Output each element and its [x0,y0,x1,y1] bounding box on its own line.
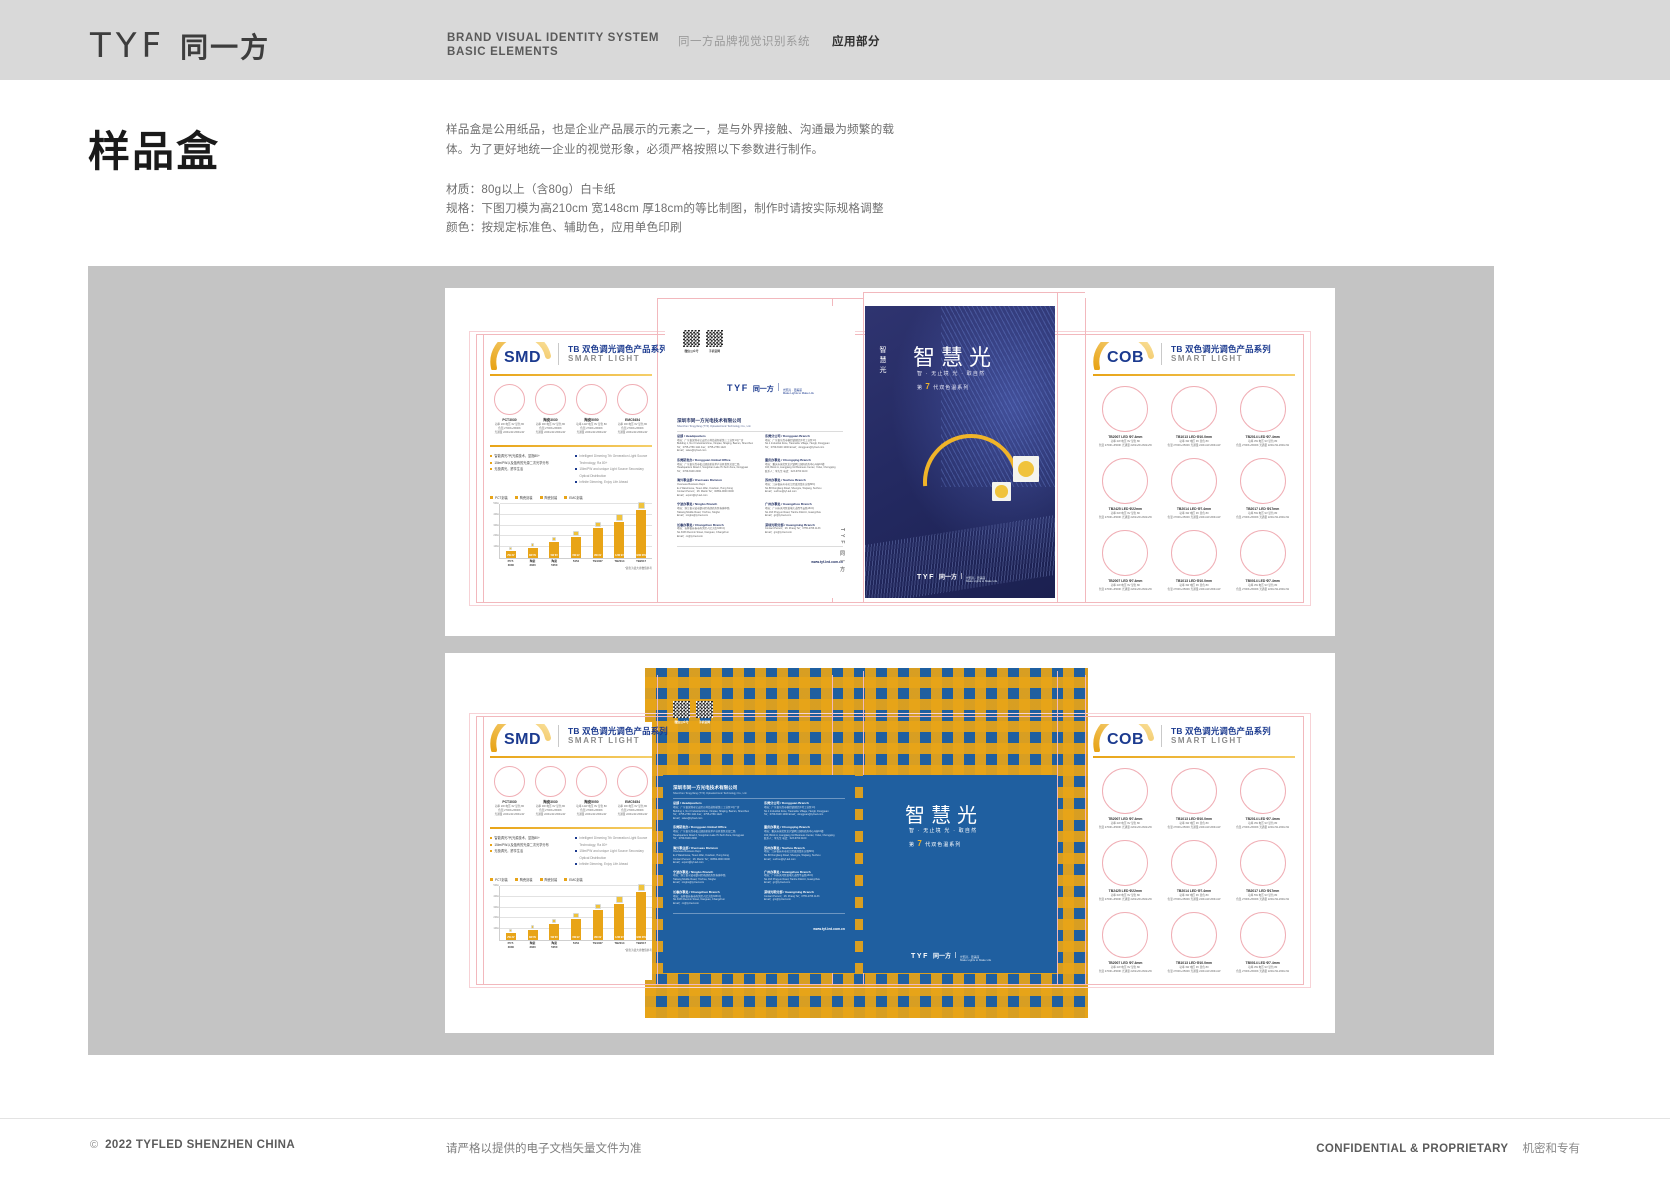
branch-block: 宁波办事处 / Ningbo Branch地址：浙江省宁波市鄞州区南部商务区泰康… [677,502,755,517]
branch-block: 重庆办事处 / Chongqing Branch地址：重庆市渝北区龙兴镇两江国际… [765,458,843,473]
cover-tyf-logo: TYF 同一方 光照亮 · 更美丽 Make Lights to Make Li… [917,572,997,584]
website-row: www.tyf-led.com.cn [677,550,843,568]
product-caption: TB0014 LED Φ7.4mm功率 3W 电压 9V 显色 80色温 270… [1236,961,1289,974]
feature-row: 无极调光，舒享生活 [490,466,567,473]
product-circle [1171,768,1217,814]
chart-bar: 12W 9V [614,522,624,558]
cover-spine-title: 智慧光 [841,350,851,380]
chart-bar: 3W 6V [528,930,538,940]
product-spec-3: 光通量 220lm/W-260lm/W [618,813,648,817]
smd-features-cn: 智能调光7代光源技术，显指80+ 15lm/PW以及独有的光源二次光学分布 无极… [490,835,567,868]
product-spec-2: 色温 2700K+6500K 光通量 220lm/W-260lm/W [1236,898,1289,902]
cob-panel-header: COB TB 双色调光调色产品系列 SMART LIGHT [1093,722,1295,752]
product-spec-2: 色温 2700K+6500K 光通量 220lm/W-260lm/W [1099,588,1152,592]
branch-block: 深圳光明分部 / Guangming BranchContact Person：… [764,890,845,905]
cob-spec-panel-plaid: COB TB 双色调光调色产品系列 SMART LIGHT TB2007 LED… [1093,722,1295,980]
chart-y-tick: 30lm [493,524,499,527]
chart-x-label: TB1307 [593,941,603,945]
branch-block: 东莞研发办 / Dongguan Global Office地址：广东省东莞市松… [673,825,754,840]
tyf-mark-text: TYF [917,574,935,581]
product-spec-2: 色温 2700K+6500K 光通量 220lm/W-260lm/W [1168,516,1221,520]
chart-bar: 5W 6V [549,542,559,557]
cover-generation: 第 7 代双色温系列 [909,839,961,848]
branch-line: Email：gz@tyf-led.com [764,881,845,885]
product-caption: TB2425 LED Φ22mm功率 6W 电压 9V 显色 80色温 2700… [1099,507,1152,520]
cob-product-cell: TB2017 LED Φ17mm功率 5W 电压 9V 显色 80色温 2700… [1230,458,1295,520]
branch-line: Tel：0769-8100 1000 Email：dongguan@tyf-le… [764,813,845,817]
dieline-fold-6 [1085,675,1086,985]
legend-swatch-icon [490,878,493,881]
logo-tagline-en: Make Lights to Make Life [966,580,997,584]
product-spec-2: 色温 2700K+6500K 光通量 220lm/W-260lm/W [1236,588,1289,592]
product-circle [494,384,525,415]
chart-led-chip-icon [509,547,512,550]
product-caption: TB1013 LED Φ10.0mm功率 3W 电压 9V 显色 80色温 27… [1168,579,1221,592]
bullet-icon [490,850,492,852]
product-spec-2: 色温 2700K+6500K 光通量 220lm/W-260lm/W [1168,826,1221,830]
branch-line: 联系人：李先生 电话：023-6700 1100 [765,470,843,474]
chart-bar-label: 18W 36V [636,936,646,939]
chart-gridline: 30lm [500,907,652,908]
spec-line-color: 颜色：按规定标准色、辅助色，应用单色印刷 [446,218,906,237]
branch-line: Email：sales@tyf-led.com [673,817,754,821]
led-dot-icon [995,485,1007,497]
cob-panel-header: COB TB 双色调光调色产品系列 SMART LIGHT [1093,340,1295,370]
chart-led-chip-icon [552,537,556,541]
product-circle [576,766,607,797]
product-spec-3: 光通量 220lm/W-260lm/W [618,431,648,435]
feature-row: 15lm/PW and unique Light Source Secondar… [575,466,652,479]
legend-swatch-icon [564,496,567,499]
description-paragraph: 样品盒是公用纸品，也是企业产品展示的元素之一，是与外界接触、沟通最为频繁的载体。… [446,120,906,160]
qr-wechat: 微信公众号 [683,330,700,353]
chart-bar-label: 3W 6V [528,554,538,557]
contact-details: 深圳市同一方光电技术有限公司 Shenzhen Tongyifang (TYF)… [673,785,845,935]
product-caption: TB1013 LED Φ10.0mm功率 3W 电压 9V 显色 80色温 27… [1168,817,1221,830]
cob-title-en: SMART LIGHT [1171,354,1243,363]
copyright-text: 2022 TYFLED SHENZHEN CHINA [105,1139,295,1151]
chart-y-tick: 10lm [493,545,499,548]
tyf-cn-text: 同一方 [753,384,774,394]
product-spec-2: 色温 2700K+6500K 光通量 220lm/W-260lm/W [1168,588,1221,592]
legend-swatch-icon [540,496,543,499]
product-spec-3: 光通量 220lm/W-260lm/W [536,813,566,817]
branch-address-grid: 总部 / Headquarters地址：广东省深圳市宝安区沙井街道新桥第三工业区… [677,434,843,543]
smd-panel-header: SMD TB 双色调光调色产品系列 SMART LIGHT [490,722,652,752]
header-subtitle-line1: BRAND VISUAL IDENTITY SYSTEM [447,31,659,45]
smd-product-cell: 陶瓷3030功率 3W 电压 6V 显色 80色温 2700K+6500K光通量… [531,766,570,817]
product-caption: TB2017 LED Φ17mm功率 5W 电压 9V 显色 80色温 2700… [1236,507,1289,520]
bullet-icon [575,863,577,865]
product-caption: TB2007 LED Φ7.4mm功率 2W 电压 9V 显色 80色温 270… [1099,817,1152,830]
branch-line: 联系人：李先生 电话：023-6700 1100 [764,837,845,841]
chart-bar-label: 12W 9V [614,936,624,939]
product-spec-2: 色温 2700K+6500K 光通量 220lm/W-260lm/W [1168,970,1221,974]
chart-bar: 6W 9V [571,919,581,940]
qr-group: 微信公众号 手机官网 [683,330,855,353]
product-circle [1240,458,1286,504]
company-name-en: Shenzhen Tongyifang (TYF) Optoelectronic… [677,425,843,428]
logo-tagline: 光照亮 · 更美丽 Make Lights to Make Life [960,956,991,963]
feature-text: 15lm/PW and unique Light Source Secondar… [579,848,652,861]
product-circle [535,766,566,797]
chart-bar: 9W 9V [593,910,603,939]
smd-product-cell: 陶瓷5050功率 12W 电压 9V 显色 80色温 2700K+6500K光通… [572,766,611,817]
chart-led-chip-icon [638,884,645,891]
qr-mobile-site: 手机官网 [696,701,713,724]
cob-product-cell: TB2014 LED Φ7.4mm功率 3W 电压 9V 显色 80色温 270… [1162,458,1227,520]
product-spec-3: 光通量 220lm/W-260lm/W [495,431,525,435]
product-caption: 陶瓷3030功率 3W 电压 6V 显色 80色温 2700K+6500K光通量… [536,800,566,817]
branch-block: 深圳光明分部 / Guangming BranchContact Person：… [765,523,843,538]
header-subtitle-line2: BASIC ELEMENTS [447,45,659,59]
branch-block: 重庆办事处 / Chongqing Branch地址：重庆市渝北区龙兴镇两江国际… [764,825,845,840]
branch-block: 宁波办事处 / Ningbo Branch地址：浙江省宁波市鄞州区南部商务区泰康… [673,870,754,885]
smd-product-cell: EMC5454 功率 3W 电压 6V 显色 80 色温 2700K+6500K… [613,384,652,435]
description-block: 样品盒是公用纸品，也是企业产品展示的元素之一，是与外界接触、沟通最为频繁的载体。… [446,120,906,237]
product-spec-2: 色温 2700K+6500K 光通量 220lm/W-260lm/W [1099,444,1152,448]
cob-product-cell: TB1013 LED Φ10.0mm功率 3W 电压 9V 显色 80色温 27… [1162,768,1227,830]
legend-item: 陶瓷封装 [515,495,533,500]
tyf-mark-text: TYF [727,383,749,393]
logo-divider [955,952,956,958]
product-caption: TB2014 LED Φ7.4mm功率 3W 电压 9V 显色 80色温 270… [1168,889,1221,902]
product-circle [1171,530,1217,576]
footer-note: 请严格以提供的电子文档矢量文件为准 [446,1140,642,1156]
branch-block: 苏州办事处 / Suzhou Branch地址：江苏省苏州市吴江区盛泽镇东方路8… [765,478,843,497]
branch-line: Tel：0769-8100 1000 Email：dongguan@tyf-le… [765,446,843,450]
cob-product-cell: TB2007 LED Φ7.4mm功率 2W 电压 9V 显色 80色温 270… [1093,530,1158,592]
smd-product-grid: PCT3030 功率 2W 电压 3V 显色 80 色温 2700K+6500K… [490,384,652,435]
legend-label: 陶瓷封装 [520,495,533,500]
company-name-cn: 深圳市同一方光电技术有限公司 [677,418,843,424]
product-spec-2: 色温 2700K+6500K 光通量 220lm/W-260lm/W [1099,898,1152,902]
product-caption: TB2014 LED Φ7.4mm功率 3W 电压 9V 显色 80色温 270… [1236,435,1289,448]
legend-item: 陶瓷封装 [540,495,558,500]
product-spec-2: 色温 2700K+6500K 光通量 220lm/W-260lm/W [1099,516,1152,520]
smd-product-cell: 陶瓷5050 功率 12W 电压 9V 显色 80 色温 2700K+6500K… [572,384,611,435]
smd-header-divider [558,343,559,365]
product-caption: PCT3030功率 2W 电压 3V 显色 80色温 2700K+6500K光通… [495,800,525,817]
led-chip-large-icon [1013,456,1039,482]
feature-row: Intelligent Dimming 7th Generation Light… [575,453,652,466]
logo-divider [961,573,962,579]
chart-led-chip-icon [573,913,578,918]
branch-block: 广州办事处 / Guangzhou Branch地址：广州市天河区黄埔大道西平云… [764,870,845,885]
dieline-fold-6 [1085,298,1086,603]
smd-panel-header: SMD TB 双色调光调色产品系列 SMART LIGHT [490,340,652,370]
chart-gridline: 40lm [500,896,652,897]
chart-bar-label: 9W 9V [593,554,603,557]
website-url: www.tyf-led.com.cn [813,927,845,931]
smd-gold-rule [490,374,652,376]
smd-product-cell: PCT3030 功率 2W 电压 3V 显色 80 色温 2700K+6500K… [490,384,529,435]
qr-group-plaid: 微信公众号 手机官网 [673,701,713,724]
legend-item: EMC封装 [564,495,582,500]
branch-line: Tel：0769-8100 2000 [673,837,754,841]
dieline-top-tab-a [657,298,863,299]
gen-suffix: 代双色温系列 [933,385,969,391]
company-name-en: Shenzhen Tongyifang (TYF) Optoelectronic… [673,792,845,795]
product-spec-2: 色温 2700K+6500K 光通量 220lm/W-260lm/W [1099,970,1152,974]
chart-y-tick: 10lm [493,927,499,930]
smd-spec-panel-plaid: SMD TB 双色调光调色产品系列 SMART LIGHT PCT3030功率 … [490,722,652,980]
legend-swatch-icon [540,878,543,881]
branch-block: 总部 / Headquarters地址：广东省深圳市宝安区沙井街道新桥第三工业区… [677,434,755,453]
smd-gold-rule-2 [490,827,652,829]
product-caption: TB0014 LED Φ7.4mm功率 3W 电压 9V 显色 80色温 270… [1236,579,1289,592]
bullet-icon [575,837,577,839]
cover-spine-brand: TYF 同一方 [839,528,846,575]
qr-label: 手机官网 [706,349,723,353]
gen-number: 7 [925,382,930,391]
cover-title: 智慧光 [913,340,997,372]
product-spec-3: 光通量 220lm/W-260lm/W [576,813,607,817]
branch-block: 东莞分公司 / Dongguan Branch地址：广东省东莞市横沥镇田饶步村工… [764,801,845,820]
gen-suffix: 代双色温系列 [925,842,961,848]
brand-logo: TYF 同一方 [90,26,270,66]
contact-tyf-logo: TYF 同一方 光照亮 · 更美丽 Make Lights to Make Li… [727,383,855,396]
feature-row: Intelligent Dimming 7th Generation Light… [575,835,652,848]
qr-wechat: 微信公众号 [673,701,690,724]
product-circle [1240,840,1286,886]
branch-line: Email：gm@tyf-led.com [765,531,843,535]
website-row: www.tyf-led.com.cn [673,917,845,935]
smd-features-en: Intelligent Dimming 7th Generation Light… [575,835,652,868]
header-section-label: 应用部分 [832,33,880,49]
footer-confidential: CONFIDENTIAL & PROPRIETARY 机密和专有 [1316,1140,1580,1156]
branch-block: 长春办事处 / Changchun Branch地址：吉林省长春市南关区人民大街… [673,890,754,905]
branch-line: Email：ningbo@tyf-led.com [673,881,754,885]
cob-product-cell: TB2014 LED Φ7.4mm功率 3W 电压 9V 显色 80色温 270… [1230,768,1295,830]
cob-gold-rule [1093,756,1295,758]
footer-copyright: © 2022 TYFLED SHENZHEN CHINA [90,1139,295,1151]
chart-bar: 18W 36V [636,510,646,558]
product-circle [1102,912,1148,958]
cover-tyf-logo: TYF 同一方 光照亮 · 更美丽 Make Lights to Make Li… [911,951,991,963]
cob-product-cell: TB1013 LED Φ10.0mm功率 3W 电压 9V 显色 80色温 27… [1162,530,1227,592]
qr-code-icon [683,330,700,347]
product-spec-2: 色温 2700K+6500K 光通量 220lm/W-260lm/W [1168,444,1221,448]
bullet-icon [490,455,492,457]
led-output-bar-chart: 10lm20lm30lm40lm50lm2W 3VPCT-30303W 6V陶瓷… [499,886,652,941]
chart-led-chip-icon [531,543,535,547]
feature-text: 无极调光，舒享生活 [494,466,523,473]
legend-swatch-icon [515,496,518,499]
chart-y-tick: 20lm [493,534,499,537]
product-circle [1171,458,1217,504]
company-name-cn: 深圳市同一方光电技术有限公司 [673,785,845,791]
brand-name-cn: 同一方 [180,26,270,66]
chart-y-tick: 30lm [493,906,499,909]
cob-product-grid: TB2007 LED Φ7.4mm功率 2W 电压 9V 显色 80色温 270… [1093,386,1295,592]
bullet-icon [575,468,577,470]
legend-label: 陶瓷封装 [545,877,558,882]
cob-product-cell: TB0014 LED Φ7.4mm功率 3W 电压 9V 显色 80色温 270… [1230,912,1295,974]
chart-bar-label: 18W 36V [636,554,646,557]
smd-header-divider [558,725,559,747]
qr-label: 微信公众号 [673,720,690,724]
smd-features-en: Intelligent Dimming 7th Generation Light… [575,453,652,486]
chart-gridline: 40lm [500,514,652,515]
header-subtitle-en: BRAND VISUAL IDENTITY SYSTEM BASIC ELEME… [447,31,659,59]
branch-block: 海外事业部 / Overseas DivisionOverseas Busine… [677,478,755,497]
product-circle [1102,840,1148,886]
led-output-bar-chart: 10lm20lm30lm40lm50lm2W 3VPCT-30303W 6V陶瓷… [499,504,652,559]
smd-title-en: SMART LIGHT [568,736,640,745]
cob-logo-text: COB [1107,349,1144,367]
chart-led-chip-icon [638,502,645,509]
branch-block: 东莞分公司 / Dongguan Branch地址：广东省东莞市横沥镇田饶步村工… [765,434,843,453]
legend-item: EMC封装 [564,877,582,882]
branch-line: Email：cc@tyf-led.com [677,535,755,539]
header-system-label: 同一方品牌视觉识别系统 [678,33,810,49]
dieline-sheet-plain: SMD TB 双色调光调色产品系列 SMART LIGHT PCT3030 功率… [445,288,1335,636]
dieline-fold-2 [657,675,658,985]
branch-block: 海外事业部 / Overseas DivisionOverseas Busine… [673,846,754,865]
product-circle [617,766,648,797]
chart-bar-label: 3W 6V [528,936,538,939]
product-circle [1240,530,1286,576]
legend-swatch-icon [490,496,493,499]
cob-header-divider [1161,343,1162,365]
product-caption: TB2425 LED Φ22mm功率 6W 电压 9V 显色 80色温 2700… [1099,889,1152,902]
chart-led-chip-icon [573,531,578,536]
chart-legend: PCT封装 陶瓷封装 陶瓷封装 EMC封装 [490,495,652,500]
bullet-icon [490,468,492,470]
product-caption: EMC5454功率 3W 电压 6V 显色 80色温 2700K+6500K光通… [618,800,648,817]
branch-address-grid: 总部 / Headquarters地址：广东省深圳市宝安区沙井街道新桥第三工业区… [673,801,845,910]
led-dot-icon [1018,461,1035,478]
branch-line: Email：sales@tyf-led.com [677,449,755,453]
bullet-icon [575,455,577,457]
chart-bar: 18W 36V [636,892,646,940]
product-circle [617,384,648,415]
product-circle [1171,840,1217,886]
page-root: TYF 同一方 BRAND VISUAL IDENTITY SYSTEM BAS… [0,0,1670,1181]
legend-item: PCT封装 [490,495,508,500]
legend-label: 陶瓷封装 [545,495,558,500]
chart-x-label: TB2014 [614,559,624,563]
product-caption: TB2014 LED Φ7.4mm功率 3W 电压 9V 显色 80色温 270… [1168,507,1221,520]
chart-bar: 2W 3V [506,933,516,939]
dieline-fold-1 [483,716,484,985]
cob-product-cell: TB1013 LED Φ10.0mm功率 3W 电压 9V 显色 80色温 27… [1162,386,1227,448]
cob-title-en: SMART LIGHT [1171,736,1243,745]
feature-text: 无极调光，舒享生活 [494,848,523,855]
smd-gold-rule [490,756,652,758]
feature-row: Infinite Dimming, Enjoy Life Ahead [575,861,652,868]
product-circle [1102,458,1148,504]
spec-line-dimension: 规格：下图刀模为高210cm 宽148cm 厚18cm的等比制图，制作时请按实际… [446,199,906,218]
product-circle [1240,768,1286,814]
chart-led-chip-icon [595,904,601,910]
branch-line: Tel：0769-8100 2000 [677,470,755,474]
smd-features-cn: 智能调光7代光源技术，显指80+ 15lm/PW以及独有的光源二次光学分布 无极… [490,453,567,486]
branch-block: 苏州办事处 / Suzhou Branch地址：江苏省苏州市吴江区盛泽镇东方路8… [764,846,845,865]
contact-panel-blue: 深圳市同一方光电技术有限公司 Shenzhen Tongyifang (TYF)… [663,775,855,973]
product-spec-3: 光通量 220lm/W-260lm/W [576,431,607,435]
chart-bar: 3W 6V [528,548,538,558]
chart-bar: 12W 9V [614,904,624,940]
chart-gridline: 30lm [500,525,652,526]
bullet-icon [490,462,492,464]
product-caption: TB2007 LED Φ7.4mm功率 2W 电压 9V 显色 80色温 270… [1099,579,1152,592]
branch-line: Email：export@tyf-led.com [673,861,754,865]
contact-details: 深圳市同一方光电技术有限公司 Shenzhen Tongyifang (TYF)… [677,418,843,568]
legend-swatch-icon [564,878,567,881]
product-caption: EMC5454 功率 3W 电压 6V 显色 80 色温 2700K+6500K… [618,418,648,435]
product-spec-2: 色温 2700K+6500K 光通量 220lm/W-260lm/W [1236,444,1289,448]
chart-x-label: 5454 [571,941,581,945]
branch-line: Email：suzhou@tyf-led.com [764,858,845,862]
chart-footnote: *颜色为最大参数值参考 [490,948,652,952]
qr-mobile-site: 手机官网 [706,330,723,353]
dieline-sheet-plaid: SMD TB 双色调光调色产品系列 SMART LIGHT PCT3030功率 … [445,653,1335,1033]
product-caption: TB1013 LED Φ10.0mm功率 3W 电压 9V 显色 80色温 27… [1168,961,1221,974]
cob-product-cell: TB1013 LED Φ10.0mm功率 3W 电压 9V 显色 80色温 27… [1162,912,1227,974]
cob-product-cell: TB2425 LED Φ22mm功率 6W 电压 9V 显色 80色温 2700… [1093,458,1158,520]
cob-header-divider [1161,725,1162,747]
copyright-icon: © [90,1139,98,1151]
logo-tagline-en: Make Lights to Make Life [960,959,991,963]
smd-gold-rule-2 [490,445,652,447]
product-cover-front: 智慧光 智慧光 智 · 无止境 光 · 取自然 第 7 代双色温系列 TYF 同… [865,306,1055,598]
product-caption: 陶瓷3030 功率 3W 电压 6V 显色 80 色温 2700K+6500K … [536,418,566,435]
product-circle [1171,912,1217,958]
product-spec-2: 色温 2700K+6500K 光通量 220lm/W-260lm/W [1168,898,1221,902]
chart-bar-label: 9W 9V [593,936,603,939]
brand-mark-text: TYF [90,26,166,66]
smd-title-en: SMART LIGHT [568,354,640,363]
product-circle [494,766,525,797]
cover-slogan: 智 · 无止境 光 · 取自然 [917,370,985,377]
product-circle [1102,530,1148,576]
chart-gridline: 50lm [500,503,652,504]
bullet-icon [490,844,492,846]
chart-led-chip-icon [531,925,535,929]
chart-led-chip-icon [552,919,556,923]
tyf-mark-text: TYF [911,953,929,960]
product-circle [1102,768,1148,814]
tyf-cn-text: 同一方 [933,951,951,960]
branch-line: Email：export@tyf-led.com [677,494,755,498]
smd-features: 智能调光7代光源技术，显指80+ 15lm/PW以及独有的光源二次光学分布 无极… [490,453,652,486]
smd-product-cell: 陶瓷3030 功率 3W 电压 6V 显色 80 色温 2700K+6500K … [531,384,570,435]
logo-divider [778,383,779,391]
chart-led-chip-icon [509,929,512,932]
feature-text: Infinite Dimming, Enjoy Life Ahead [579,861,628,868]
cob-spec-panel: COB TB 双色调光调色产品系列 SMART LIGHT TB2007 LED… [1093,340,1295,598]
bullet-icon [575,481,577,483]
chart-x-label: 5454 [571,559,581,563]
product-caption: TB1013 LED Φ10.0mm功率 3W 电压 9V 显色 80色温 27… [1168,435,1221,448]
header-meta: 同一方品牌视觉识别系统 应用部分 [678,33,880,49]
chart-bar-label: 6W 9V [571,554,581,557]
dieline-fold-4 [863,292,864,603]
product-caption: 陶瓷5050 功率 12W 电压 9V 显色 80 色温 2700K+6500K… [576,418,607,435]
chart-bar-label: 5W 6V [549,936,559,939]
smd-product-cell: EMC5454功率 3W 电压 6V 显色 80色温 2700K+6500K光通… [613,766,652,817]
dieline-fold-1 [483,334,484,603]
chart-led-chip-icon [595,522,601,528]
bullet-icon [575,850,577,852]
cob-gold-rule [1093,374,1295,376]
qr-code-icon [696,701,713,718]
feature-row: Infinite Dimming, Enjoy Life Ahead [575,479,652,486]
logo-tagline-en: Make Lights to Make Life [783,392,814,396]
dieline-top-tab-b [863,292,1085,293]
